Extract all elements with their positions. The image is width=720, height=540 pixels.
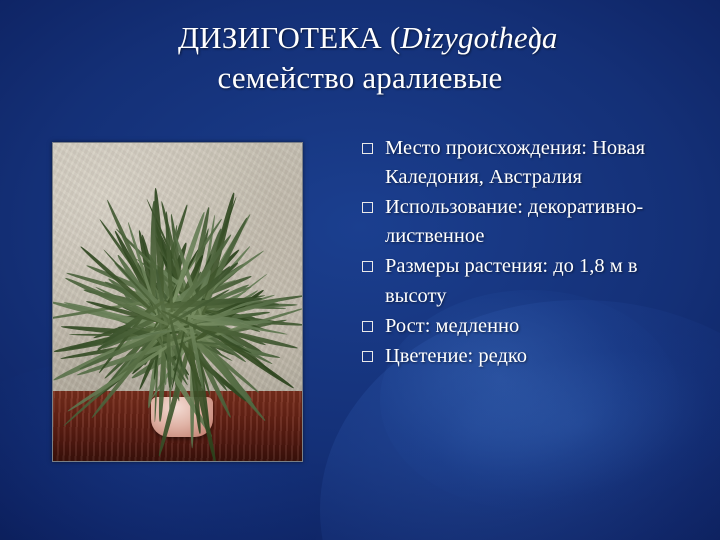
title-suffix: ) <box>532 20 543 55</box>
list-item: Размеры растения: до 1,8 м в высоту <box>362 252 682 310</box>
square-bullet-icon <box>362 351 373 362</box>
list-item-label: Место происхождения: Новая Каледония, Ав… <box>385 134 682 192</box>
list-item-label: Цветение: редко <box>385 342 682 371</box>
photo-flower-pot <box>151 397 213 437</box>
title-line-1: ДИЗИГОТЕКА (Dizygotheca) <box>40 18 680 58</box>
dizygotheca-photo <box>52 142 303 462</box>
list-item-label: Размеры растения: до 1,8 м в высоту <box>385 252 682 310</box>
photo-wall-background <box>53 143 302 391</box>
list-item: Рост: медленно <box>362 312 682 341</box>
slide-title: ДИЗИГОТЕКА (Dizygotheca) семейство арали… <box>40 18 680 97</box>
square-bullet-icon <box>362 321 373 332</box>
slide: ДИЗИГОТЕКА (Dizygotheca) семейство арали… <box>0 0 720 540</box>
square-bullet-icon <box>362 202 373 213</box>
list-item-label: Использование: декоративно-лиственное <box>385 193 682 251</box>
square-bullet-icon <box>362 261 373 272</box>
list-item: Место происхождения: Новая Каледония, Ав… <box>362 134 682 192</box>
list-item: Цветение: редко <box>362 342 682 371</box>
list-item: Использование: декоративно-лиственное <box>362 193 682 251</box>
title-prefix: ДИЗИГОТЕКА ( <box>178 20 400 55</box>
square-bullet-icon <box>362 143 373 154</box>
title-line-2: семейство аралиевые <box>40 58 680 98</box>
bullet-list: Место происхождения: Новая Каледония, Ав… <box>362 134 682 372</box>
list-item-label: Рост: медленно <box>385 312 682 341</box>
